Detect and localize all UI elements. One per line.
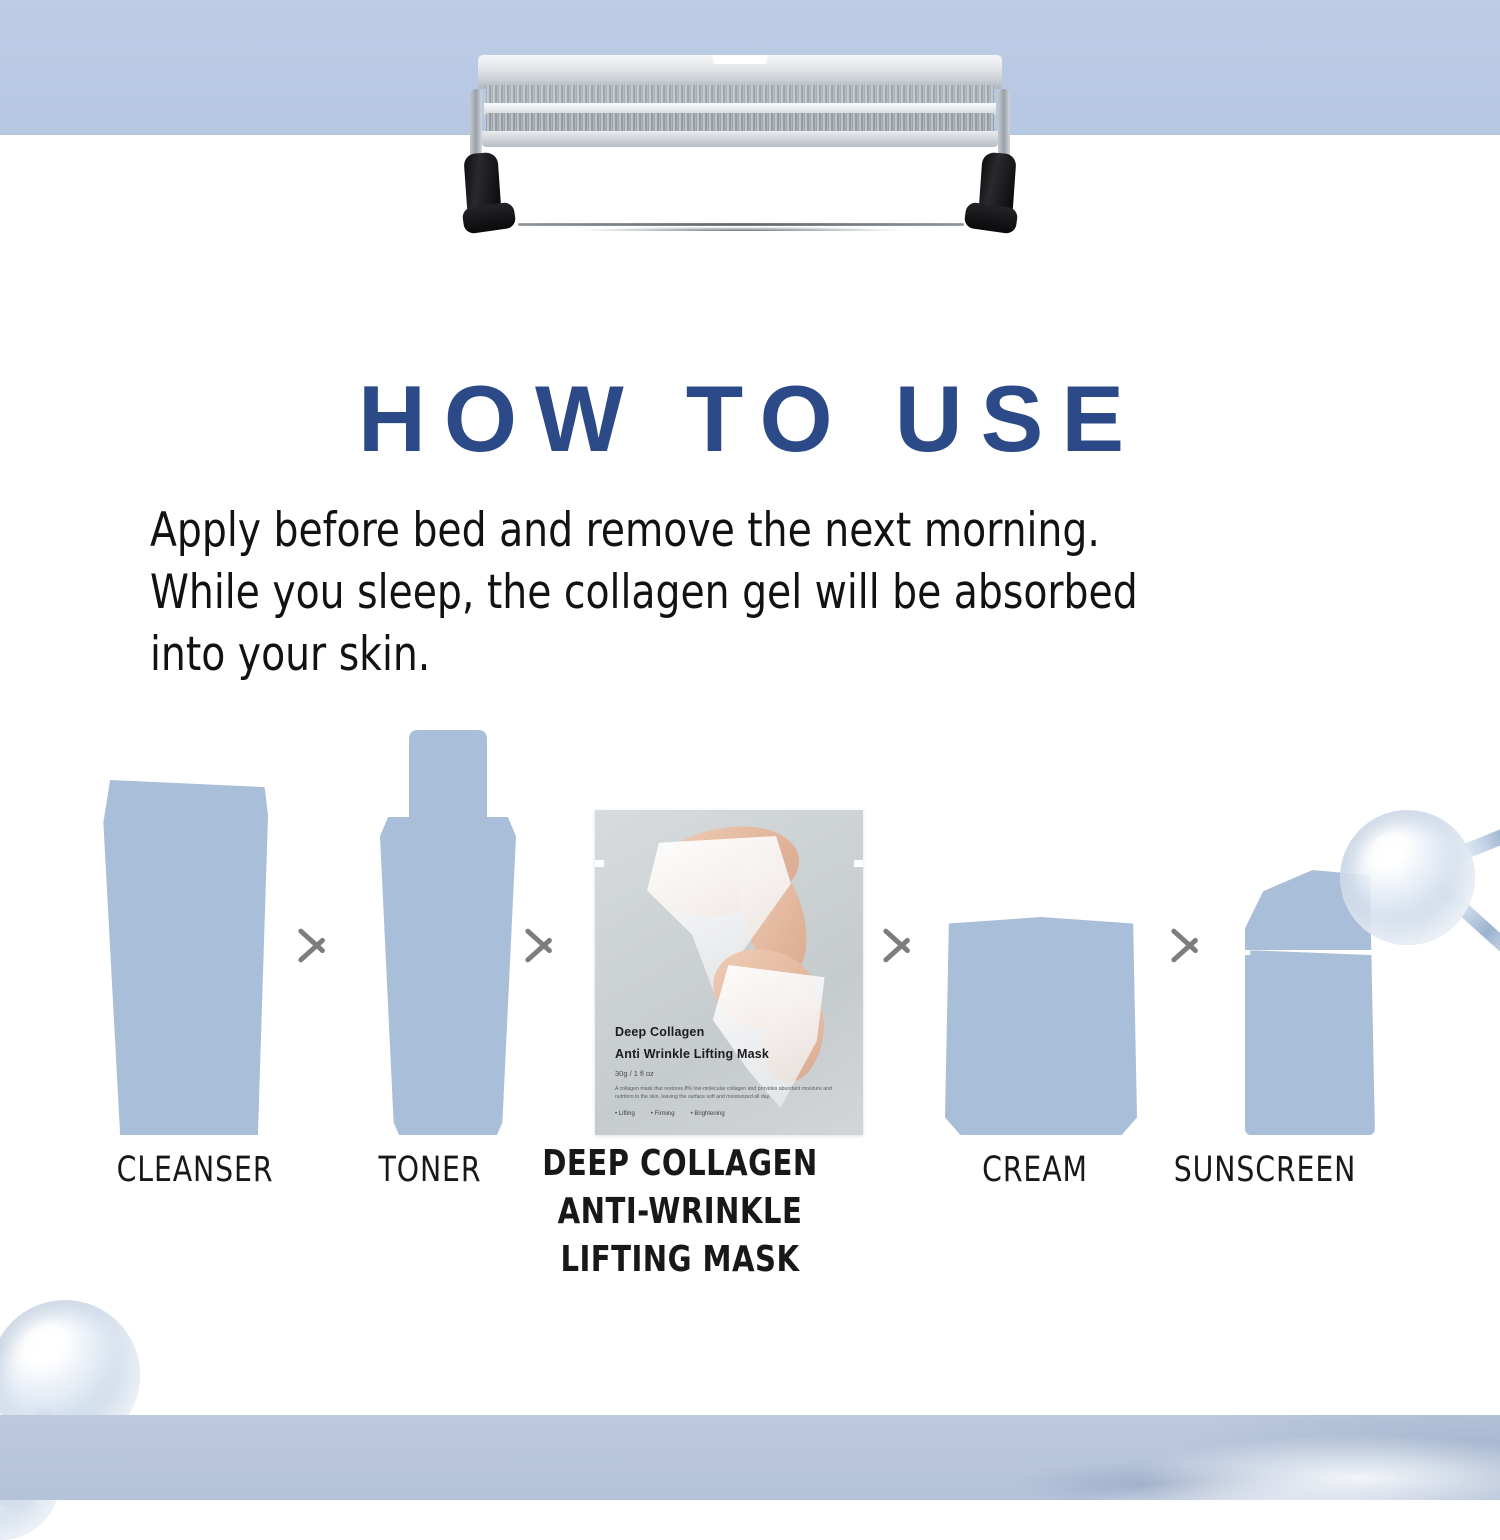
toner-cap-shape: [409, 730, 487, 825]
bubble-stem: [1430, 878, 1500, 975]
toner-bottle-shape: [380, 817, 516, 1135]
label-mask-line-2: ANTI-WRINKLE: [523, 1188, 838, 1236]
roller-foot-left: [461, 202, 516, 235]
arrow-cleanser-to-toner: [295, 915, 335, 971]
sachet-net-weight: 30g / 1 fl oz: [615, 1069, 843, 1078]
roller-cross-wire: [518, 221, 964, 231]
step-mask: Deep Collagen Anti Wrinkle Lifting Mask …: [595, 745, 863, 1135]
step-toner: [380, 730, 516, 1135]
mask-sachet: Deep Collagen Anti Wrinkle Lifting Mask …: [595, 810, 863, 1135]
face-roller-device: [460, 55, 1020, 245]
water-ripple-texture: [860, 1415, 1500, 1500]
label-cleanser: CLEANSER: [69, 1150, 321, 1190]
sachet-brand-line: Deep Collagen: [615, 1025, 843, 1039]
cream-jar-shape: [945, 917, 1137, 1135]
sachet-description: A collagen mask that restores 8% low-mol…: [615, 1085, 843, 1101]
sachet-claim-3: Brightening: [691, 1111, 725, 1117]
step-cleanser: [100, 780, 268, 1135]
instruction-line-1: Apply before bed and remove the next mor…: [150, 500, 1303, 562]
label-toner: TONER: [304, 1150, 556, 1190]
bubble-stem: [0, 1306, 15, 1363]
routine-steps: Deep Collagen Anti Wrinkle Lifting Mask …: [90, 715, 1420, 1135]
label-mask-line-3: LIFTING MASK: [523, 1236, 838, 1284]
label-mask-line-1: DEEP COLLAGEN: [523, 1140, 838, 1188]
roller-foil-lower: [486, 113, 994, 133]
cleanser-tube-shape: [100, 780, 268, 1135]
roller-top-notch: [713, 55, 767, 64]
step-cream: [945, 917, 1137, 1135]
roller-base: [482, 131, 998, 147]
bottom-water-band: [0, 1415, 1500, 1500]
arrow-toner-to-mask: [522, 915, 562, 971]
sachet-product-line: Anti Wrinkle Lifting Mask: [615, 1047, 843, 1061]
instruction-paragraph: Apply before bed and remove the next mor…: [150, 500, 1303, 686]
sachet-claims: Lifting Firming Brightening: [615, 1111, 843, 1117]
step-sunscreen: [1245, 870, 1375, 1135]
label-mask: DEEP COLLAGEN ANTI-WRINKLE LIFTING MASK: [523, 1140, 838, 1284]
label-sunscreen: SUNSCREEN: [1121, 1150, 1409, 1190]
sunscreen-tube-shape: [1245, 870, 1375, 1135]
page-title: HOW TO USE: [0, 365, 1500, 473]
instruction-line-3: into your skin.: [150, 624, 1303, 686]
arrow-cream-to-sunscreen: [1168, 915, 1208, 971]
bubble-stem: [1442, 808, 1500, 867]
instruction-line-2: While you sleep, the collagen gel will b…: [150, 562, 1303, 624]
sachet-claim-1: Lifting: [615, 1111, 635, 1117]
arrow-mask-to-cream: [880, 915, 920, 971]
roller-foil-upper: [486, 85, 994, 105]
sachet-copy-block: Deep Collagen Anti Wrinkle Lifting Mask …: [615, 1025, 843, 1117]
sachet-claim-2: Firming: [651, 1111, 675, 1117]
